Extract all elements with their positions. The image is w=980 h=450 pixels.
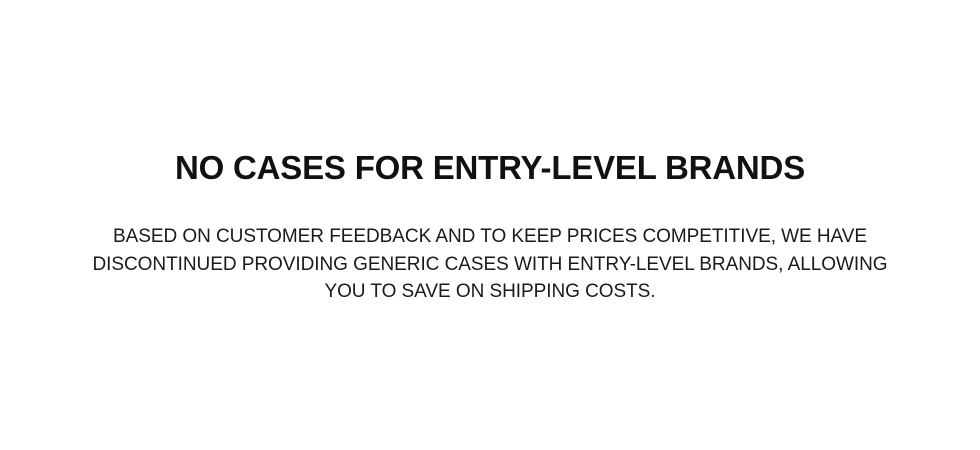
promo-banner: NO CASES FOR ENTRY-LEVEL BRANDS BASED ON…	[0, 0, 980, 450]
description-line: DISCONTINUED PROVIDING GENERIC CASES WIT…	[90, 251, 890, 279]
description-line: BASED ON CUSTOMER FEEDBACK AND TO KEEP P…	[90, 223, 890, 251]
banner-description: BASED ON CUSTOMER FEEDBACK AND TO KEEP P…	[90, 223, 890, 306]
page-title: NO CASES FOR ENTRY-LEVEL BRANDS	[175, 150, 805, 186]
banner-content: NO CASES FOR ENTRY-LEVEL BRANDS BASED ON…	[0, 150, 980, 306]
description-line: YOU TO SAVE ON SHIPPING COSTS.	[90, 278, 890, 306]
